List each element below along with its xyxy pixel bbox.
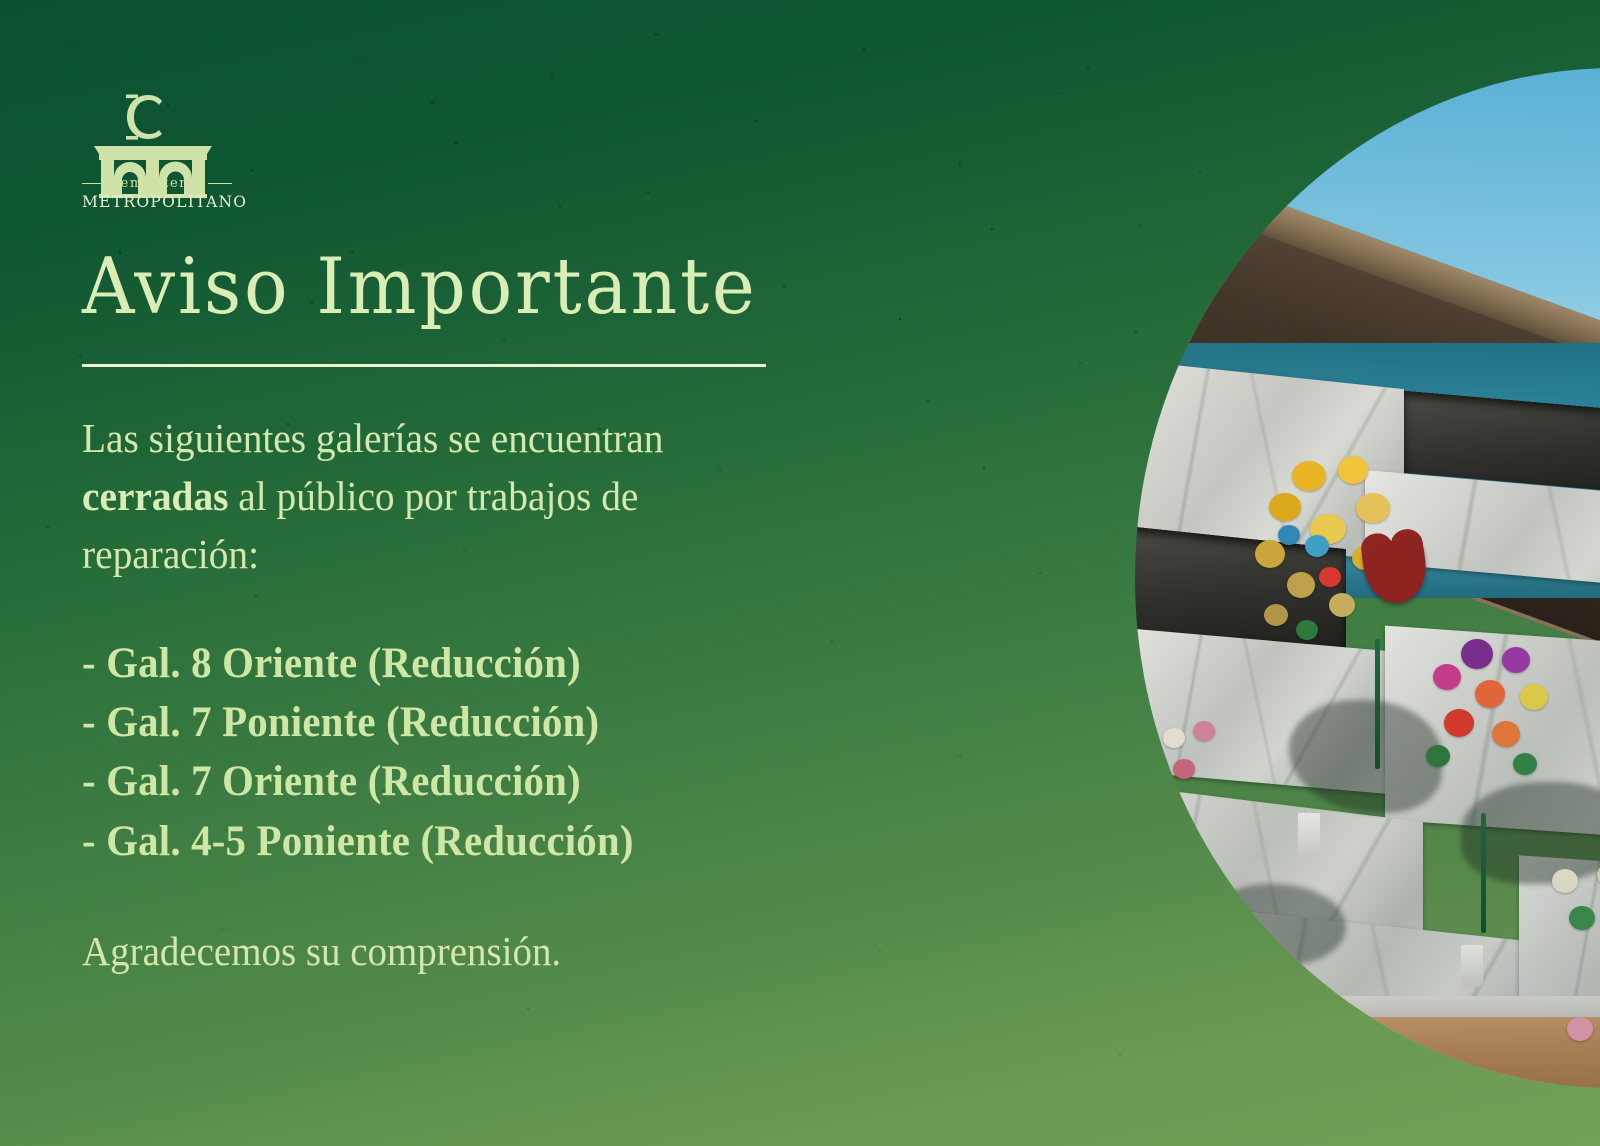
photo-flower-vase (1298, 813, 1320, 857)
cemetery-photo-scene (1135, 68, 1600, 1088)
photo-flower-bouquet (1538, 864, 1600, 1007)
intro-text-part1: Las siguientes galerías se encuentran (82, 415, 663, 461)
photo-flower-vase (1461, 945, 1483, 987)
logo-rule-right (208, 183, 232, 185)
photo-flower-bouquet (1557, 1006, 1600, 1088)
logo-wordmark: METROPOLITANO (82, 193, 232, 211)
intro-paragraph: Las siguientes galerías se encuentran ce… (82, 409, 812, 584)
list-item: - Gal. 7 Oriente (Reducción) (82, 752, 766, 811)
page-title: Aviso Importante (82, 248, 752, 326)
list-item: - Gal. 7 Poniente (Reducción) (82, 693, 766, 752)
intro-emphasis-cerradas: cerradas (82, 473, 228, 519)
photo-flower-bouquet (1154, 721, 1269, 833)
poster-content: Aviso Importante Las siguientes galerías… (82, 248, 802, 975)
list-item: - Gal. 8 Oriente (Reducción) (82, 634, 766, 693)
photo-flower-stem (1481, 813, 1486, 933)
announcement-poster: cementerio cementerio METROPOLITANO Avis… (0, 0, 1600, 1146)
photo-ground (1135, 1017, 1600, 1088)
logo-rule-left (82, 183, 106, 185)
list-item: - Gal. 4-5 Poniente (Reducción) (82, 812, 766, 871)
title-divider (82, 364, 766, 367)
photo-flower-stem (1375, 639, 1380, 769)
logo-script-word-text: cementerio (112, 176, 202, 191)
cemetery-logo: cementerio cementerio METROPOLITANO (82, 88, 232, 208)
closing-message: Agradecemos su comprensión. (82, 927, 766, 975)
closed-galleries-list: - Gal. 8 Oriente (Reducción) - Gal. 7 Po… (82, 634, 802, 871)
cemetery-photo (1135, 68, 1600, 1088)
photo-flower-bouquet (1423, 639, 1596, 843)
